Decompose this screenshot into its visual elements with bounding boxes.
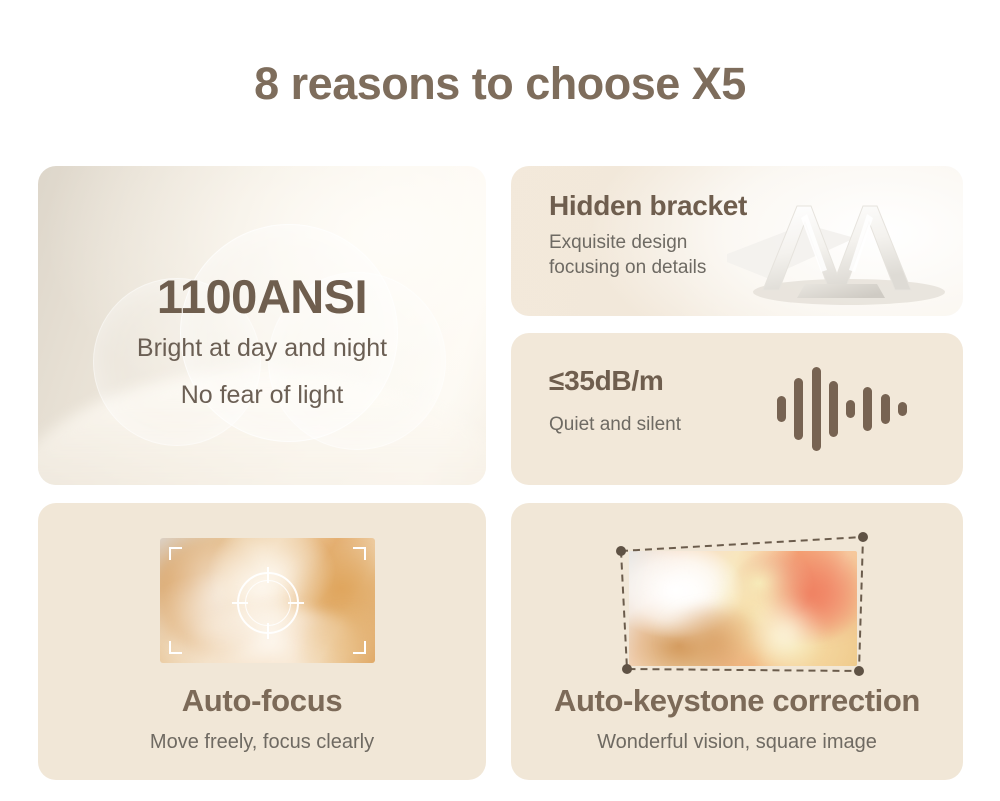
frame-corner-top-left-icon <box>169 547 182 560</box>
auto-keystone-subtitle: Wonderful vision, square image <box>511 731 963 754</box>
frame-corner-bottom-left-icon <box>169 641 182 654</box>
brightness-value: 1100ANSI <box>38 269 486 324</box>
bracket-title: Hidden bracket <box>549 190 747 222</box>
noise-level-title: ≤35dB/m <box>549 365 663 397</box>
page-title: 8 reasons to choose X5 <box>0 58 1000 110</box>
focus-reticle-icon <box>237 572 299 634</box>
brightness-tagline-1: Bright at day and night <box>38 334 486 363</box>
projected-image-autofocus <box>160 538 375 663</box>
bracket-subtitle: Exquisite design focusing on details <box>549 230 706 280</box>
sound-wave-bar-1 <box>777 396 786 422</box>
auto-focus-card: Auto-focus Move freely, focus clearly <box>38 503 486 780</box>
brightness-tagline-2: No fear of light <box>38 381 486 410</box>
keystone-handle-bottom-left <box>622 664 632 674</box>
brightness-card: 1100ANSI Bright at day and night No fear… <box>38 166 486 485</box>
auto-focus-title: Auto-focus <box>38 683 486 719</box>
noise-level-subtitle: Quiet and silent <box>549 414 681 436</box>
keystone-handle-bottom-right <box>854 666 864 676</box>
auto-keystone-title: Auto-keystone correction <box>511 683 963 719</box>
sound-wave-icon <box>777 361 907 457</box>
hidden-bracket-card: Hidden bracket Exquisite design focusing… <box>511 166 963 316</box>
bracket-stand-icon <box>727 166 957 316</box>
sound-wave-bar-5 <box>846 400 855 418</box>
frame-corner-top-right-icon <box>353 547 366 560</box>
keystone-handle-top-right <box>858 532 868 542</box>
keystone-handle-top-left <box>616 546 626 556</box>
sound-wave-bar-4 <box>829 381 838 437</box>
keystone-dashed-outline-icon <box>607 519 877 684</box>
auto-focus-subtitle: Move freely, focus clearly <box>38 731 486 754</box>
sound-wave-bar-3 <box>812 367 821 451</box>
sound-wave-bar-6 <box>863 387 872 431</box>
keystone-stage <box>607 519 877 684</box>
sound-wave-bar-7 <box>881 394 890 424</box>
noise-level-card: ≤35dB/m Quiet and silent <box>511 333 963 485</box>
frame-corner-bottom-right-icon <box>353 641 366 654</box>
marketing-feature-page: 8 reasons to choose X5 1100ANSI Bright a… <box>0 0 1000 801</box>
sound-wave-bar-8 <box>898 402 907 416</box>
auto-keystone-card: Auto-keystone correction Wonderful visio… <box>511 503 963 780</box>
sound-wave-bar-2 <box>794 378 803 440</box>
